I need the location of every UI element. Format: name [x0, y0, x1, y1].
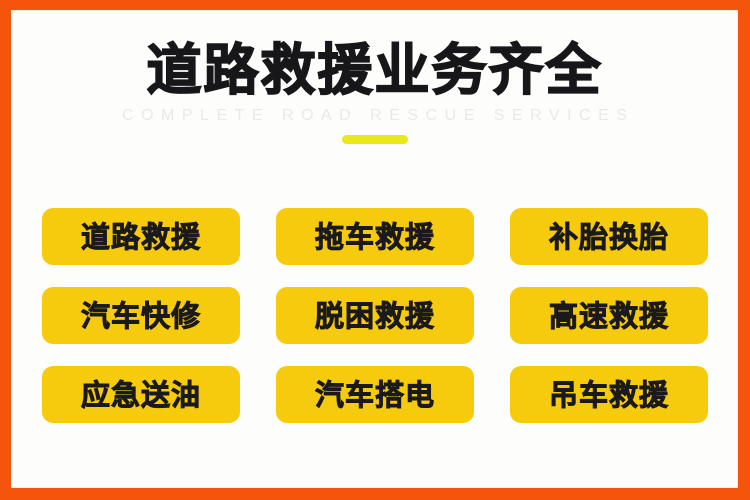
service-grid: 道路救援 拖车救援 补胎换胎 汽车快修 脱困救援 高速救援 应急送油 汽车搭电: [42, 208, 708, 423]
divider-bar: [342, 135, 408, 144]
service-chip-label: 高速救援: [549, 301, 669, 331]
service-chip-emergency-fuel[interactable]: 应急送油: [42, 366, 240, 423]
service-chip-label: 应急送油: [81, 380, 201, 410]
poster-canvas: 道路救援业务齐全 COMPLETE ROAD RESCUE SERVICES 道…: [11, 10, 738, 488]
service-chip-label: 汽车快修: [81, 301, 201, 331]
service-chip-towing-rescue[interactable]: 拖车救援: [276, 208, 474, 265]
service-chip-label: 补胎换胎: [549, 222, 669, 252]
service-chip-crane-rescue[interactable]: 吊车救援: [510, 366, 708, 423]
service-chip-label: 吊车救援: [549, 380, 669, 410]
service-chip-extrication-rescue[interactable]: 脱困救援: [276, 287, 474, 344]
service-chip-label: 汽车搭电: [315, 380, 435, 410]
service-chip-label: 脱困救援: [315, 301, 435, 331]
service-chip-tire-repair-replace[interactable]: 补胎换胎: [510, 208, 708, 265]
poster-frame: 道路救援业务齐全 COMPLETE ROAD RESCUE SERVICES 道…: [0, 0, 750, 500]
service-chip-highway-rescue[interactable]: 高速救援: [510, 287, 708, 344]
service-chip-jump-start[interactable]: 汽车搭电: [276, 366, 474, 423]
service-chip-label: 道路救援: [81, 222, 201, 252]
poster-header: 道路救援业务齐全 COMPLETE ROAD RESCUE SERVICES: [11, 40, 738, 144]
page-title: 道路救援业务齐全: [11, 40, 738, 100]
page-subtitle: COMPLETE ROAD RESCUE SERVICES: [11, 106, 738, 126]
title-divider: [11, 135, 738, 144]
service-chip-road-rescue[interactable]: 道路救援: [42, 208, 240, 265]
service-chip-quick-auto-repair[interactable]: 汽车快修: [42, 287, 240, 344]
service-chip-label: 拖车救援: [315, 222, 435, 252]
